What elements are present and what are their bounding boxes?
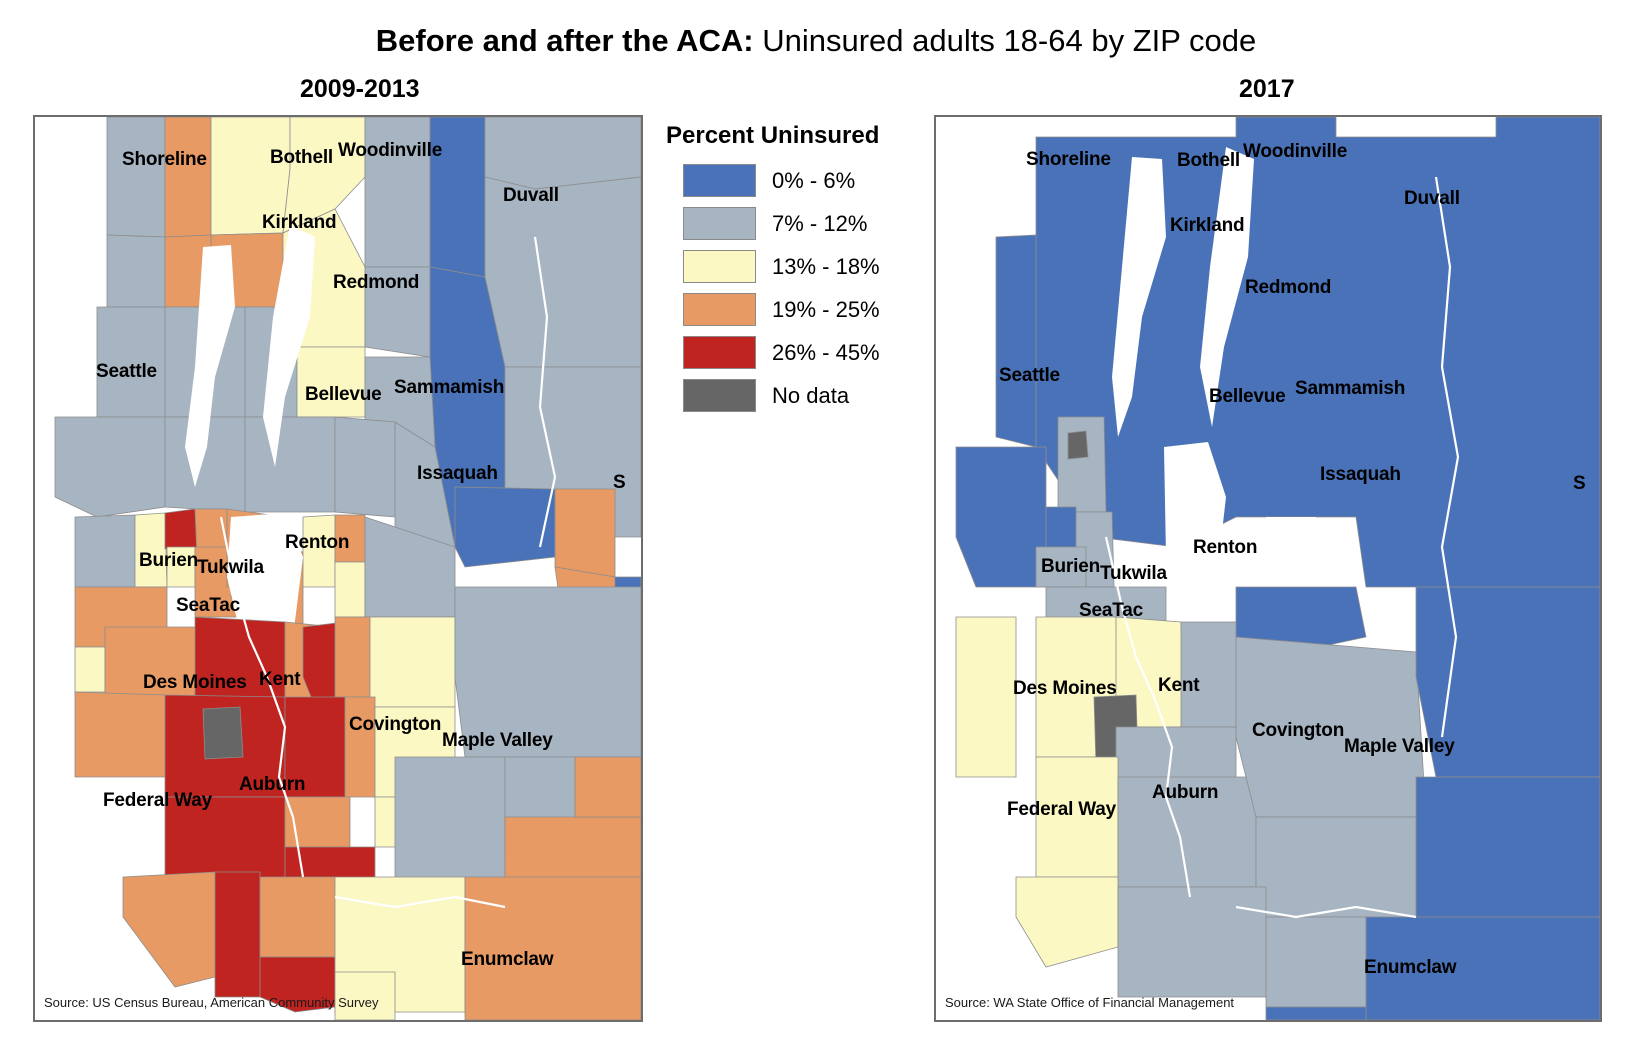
legend-swatch	[683, 250, 756, 283]
legend-swatch	[683, 207, 756, 240]
source-note-left: Source: US Census Bureau, American Commu…	[44, 995, 379, 1010]
legend-label: 0% - 6%	[772, 168, 855, 194]
legend-swatch	[683, 336, 756, 369]
legend-row: 26% - 45%	[661, 333, 923, 372]
map-panel-2009-2013[interactable]: .z{stroke:#8d8d8d;stroke-width:0.8;} .b1…	[33, 115, 643, 1022]
choropleth-map-2009-2013: .z{stroke:#8d8d8d;stroke-width:0.8;} .b1…	[35, 117, 641, 1020]
map-legend: Percent Uninsured 0% - 6%7% - 12%13% - 1…	[661, 122, 923, 422]
legend-row: 7% - 12%	[661, 204, 923, 243]
legend-row: No data	[661, 376, 923, 415]
legend-row: 19% - 25%	[661, 290, 923, 329]
legend-swatch	[683, 164, 756, 197]
legend-swatch	[683, 379, 756, 412]
figure-root: Before and after the ACA: Uninsured adul…	[0, 0, 1632, 1042]
legend-row: 0% - 6%	[661, 161, 923, 200]
legend-row: 13% - 18%	[661, 247, 923, 286]
legend-label: 19% - 25%	[772, 297, 880, 323]
legend-swatch	[683, 293, 756, 326]
source-note-right: Source: WA State Office of Financial Man…	[945, 995, 1234, 1010]
legend-rows: 0% - 6%7% - 12%13% - 18%19% - 25%26% - 4…	[661, 161, 923, 415]
legend-title: Percent Uninsured	[666, 122, 923, 150]
legend-label: 7% - 12%	[772, 211, 867, 237]
choropleth-map-2017: .z2{stroke:#8d8d8d;stroke-width:0.8;} .c…	[936, 117, 1600, 1020]
legend-label: No data	[772, 383, 849, 409]
page-title-rest: Uninsured adults 18-64 by ZIP code	[754, 23, 1257, 58]
legend-label: 26% - 45%	[772, 340, 880, 366]
map-panel-2017[interactable]: .z2{stroke:#8d8d8d;stroke-width:0.8;} .c…	[934, 115, 1602, 1022]
page-title-bold: Before and after the ACA:	[376, 23, 754, 58]
panel-title-left: 2009-2013	[300, 74, 420, 104]
panel-title-right: 2017	[1239, 74, 1295, 104]
page-title: Before and after the ACA: Uninsured adul…	[0, 22, 1632, 60]
legend-label: 13% - 18%	[772, 254, 880, 280]
